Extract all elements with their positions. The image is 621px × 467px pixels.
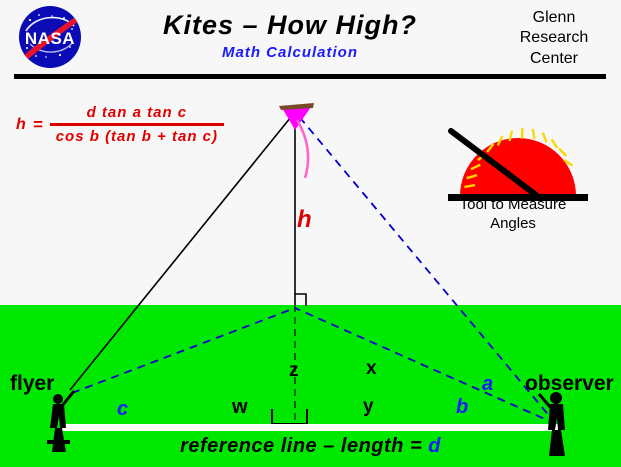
label-b: b: [456, 396, 468, 419]
label-h: h: [297, 206, 312, 234]
label-x: x: [366, 358, 377, 380]
reference-line-variable: d: [428, 435, 441, 457]
label-observer: observer: [525, 372, 614, 396]
label-c: c: [117, 398, 128, 421]
sight-line-c-flyer-to-base: [72, 308, 295, 393]
label-w: w: [232, 396, 248, 419]
label-a: a: [482, 373, 493, 396]
sight-line-x-observer-to-base: [295, 308, 556, 424]
reference-line-caption-text: reference line – length =: [180, 435, 428, 457]
kite-math-diagram-page: NASA Kites – How High? Math Calculation …: [0, 0, 621, 467]
label-z: z: [289, 360, 299, 382]
label-flyer: flyer: [10, 372, 54, 396]
right-angle-marker-upper: [295, 294, 306, 306]
reference-line-caption: reference line – length = d: [0, 435, 621, 458]
right-angle-marker-base: [272, 409, 307, 424]
kite-tail: [297, 120, 308, 178]
reference-line: [60, 424, 560, 431]
sight-line-observer-to-kite: [297, 114, 556, 424]
label-y: y: [363, 396, 374, 418]
kite-string-line: [70, 112, 295, 390]
